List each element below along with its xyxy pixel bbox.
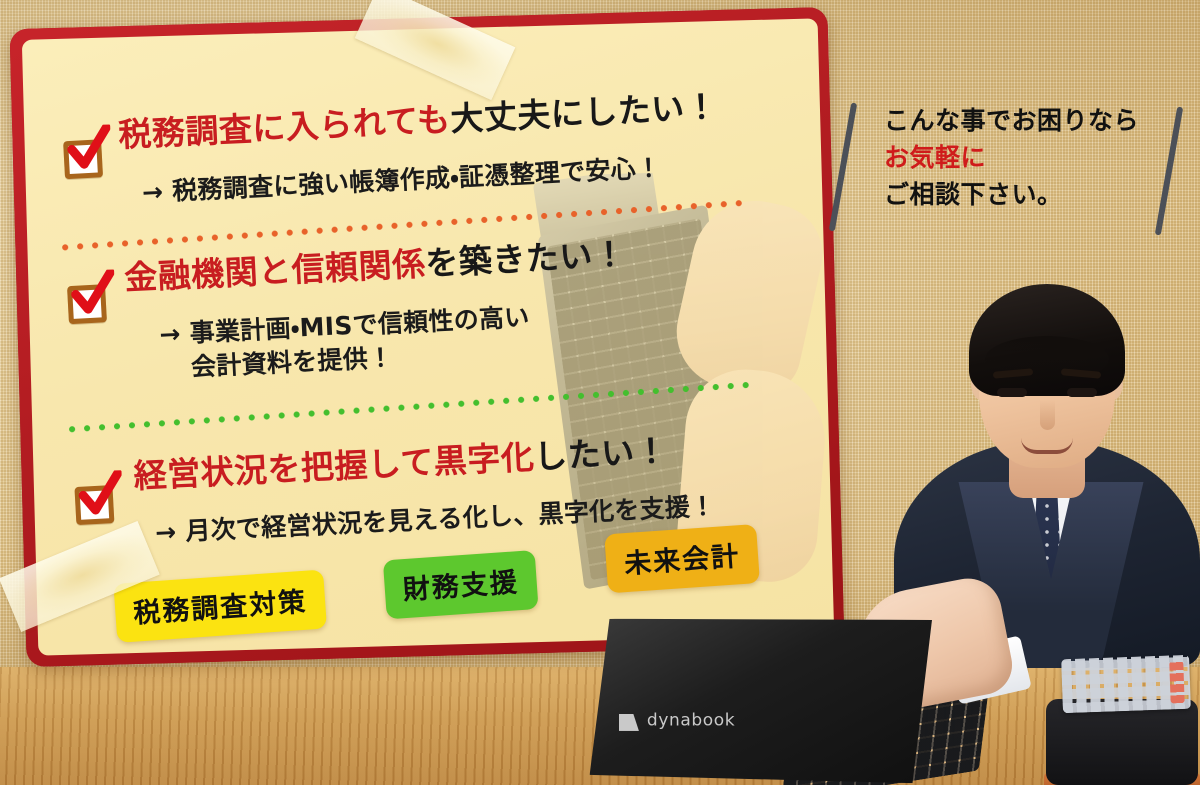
checklist-item-1: 税務調査に入られても大丈夫にしたい！ → 税務調査に強い帳簿作成・証憑整理で安心… (57, 75, 781, 244)
cta-line-1: こんな事でお困りなら (884, 102, 1139, 139)
checklist-card: 税務調査に入られても大丈夫にしたい！ → 税務調査に強い帳簿作成・証憑整理で安心… (10, 7, 845, 667)
cta-line-3: ご相談下さい。 (884, 176, 1139, 213)
calculator-on-pad (1046, 635, 1198, 785)
banner-root: 税務調査に入られても大丈夫にしたい！ → 税務調査に強い帳簿作成・証憑整理で安心… (0, 0, 1200, 785)
hair (969, 284, 1125, 396)
eye-right (1067, 388, 1097, 397)
laptop-brand-label: dynabook (647, 711, 735, 731)
nose (1040, 400, 1055, 430)
tag-financial-support[interactable]: 財務支援 (383, 550, 539, 619)
laptop-lid (582, 602, 941, 785)
checklist-heading-3: 経営状況を把握して黒字化したい！ (133, 433, 669, 496)
mouth (1021, 438, 1073, 454)
calculator (1061, 655, 1191, 713)
bracket-right-icon (1155, 106, 1183, 235)
check-mark-icon (66, 124, 111, 171)
checklist-rows: 税務調査に入られても大丈夫にしたい！ → 税務調査に強い帳簿作成・証憑整理で安心… (57, 75, 790, 586)
checklist-heading-2: 金融機関と信頼関係を築きたい！ (123, 236, 627, 297)
checklist-heading-1: 税務調査に入られても大丈夫にしたい！ (118, 89, 719, 155)
cta-block: こんな事でお困りなら お気軽に ご相談下さい。 (832, 96, 1182, 246)
tag-tax-audit[interactable]: 税務調査対策 (113, 570, 327, 643)
cta-text: こんな事でお困りなら お気軽に ご相談下さい。 (884, 102, 1139, 213)
checkbox-checked-icon (64, 279, 111, 326)
tag-future-accounting[interactable]: 未来会計 (604, 524, 760, 593)
eye-left (997, 388, 1027, 397)
bracket-left-icon (829, 102, 857, 231)
checklist-sub-2: → 事業計画・MISで信頼性の高い 会計資料を提供！ (159, 300, 532, 385)
calculator-red-keys (1169, 661, 1184, 703)
checkbox-checked-icon (60, 134, 107, 181)
check-mark-icon (70, 269, 115, 316)
laptop: dynabook (582, 602, 941, 785)
checklist-sub-1: → 税務調査に強い帳簿作成・証憑整理で安心！ (141, 151, 662, 210)
check-mark-icon (78, 470, 123, 517)
cta-line-2: お気軽に (884, 139, 1139, 176)
checkbox-checked-icon (72, 479, 119, 526)
